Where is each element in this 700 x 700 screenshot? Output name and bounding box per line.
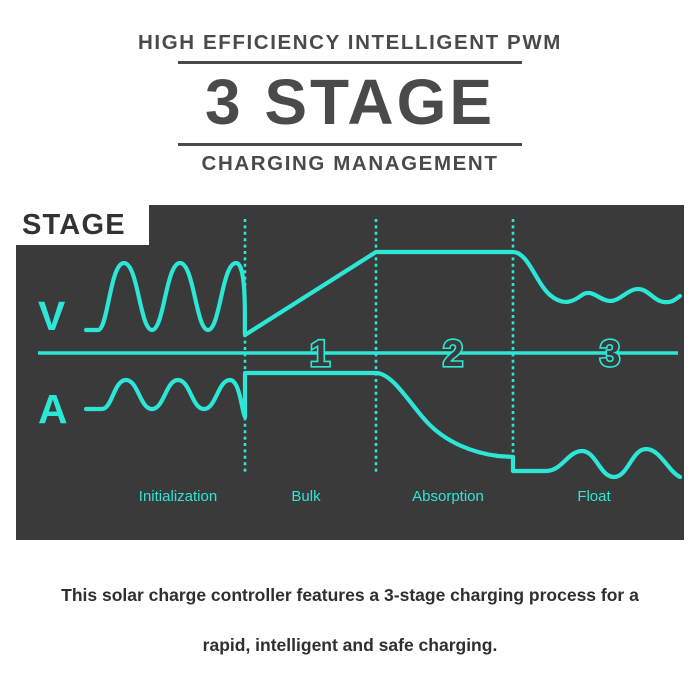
- chart-panel: STAGE V A 1 2 3 Initialization Bulk Abso…: [16, 205, 684, 540]
- phase-label-bulk: Bulk: [291, 488, 321, 505]
- axis-label-voltage: V: [38, 293, 66, 339]
- voltage-curve: [86, 252, 680, 335]
- caption-line-1: This solar charge controller features a …: [0, 570, 700, 620]
- axis-label-current: A: [38, 386, 68, 432]
- phase-label-float: Float: [577, 488, 611, 505]
- phase-label-initialization: Initialization: [139, 488, 217, 505]
- stage-number-3: 3: [600, 333, 621, 374]
- header-kicker: HIGH EFFICIENCY INTELLIGENT PWM: [0, 30, 700, 56]
- page-title: 3 STAGE: [0, 66, 700, 138]
- stage-number-1: 1: [310, 333, 331, 374]
- phase-label-absorption: Absorption: [412, 488, 484, 505]
- header-block: HIGH EFFICIENCY INTELLIGENT PWM 3 STAGE …: [0, 30, 700, 177]
- current-curve: [86, 373, 680, 477]
- stage-number-2: 2: [443, 333, 464, 374]
- caption-line-2: rapid, intelligent and safe charging.: [0, 620, 700, 670]
- header-rule-top: [178, 61, 522, 64]
- header-rule-bottom: [178, 143, 522, 146]
- charging-stage-chart: V A 1 2 3 Initialization Bulk Absorption…: [16, 205, 684, 540]
- header-subtitle: CHARGING MANAGEMENT: [0, 150, 700, 177]
- caption-block: This solar charge controller features a …: [0, 570, 700, 670]
